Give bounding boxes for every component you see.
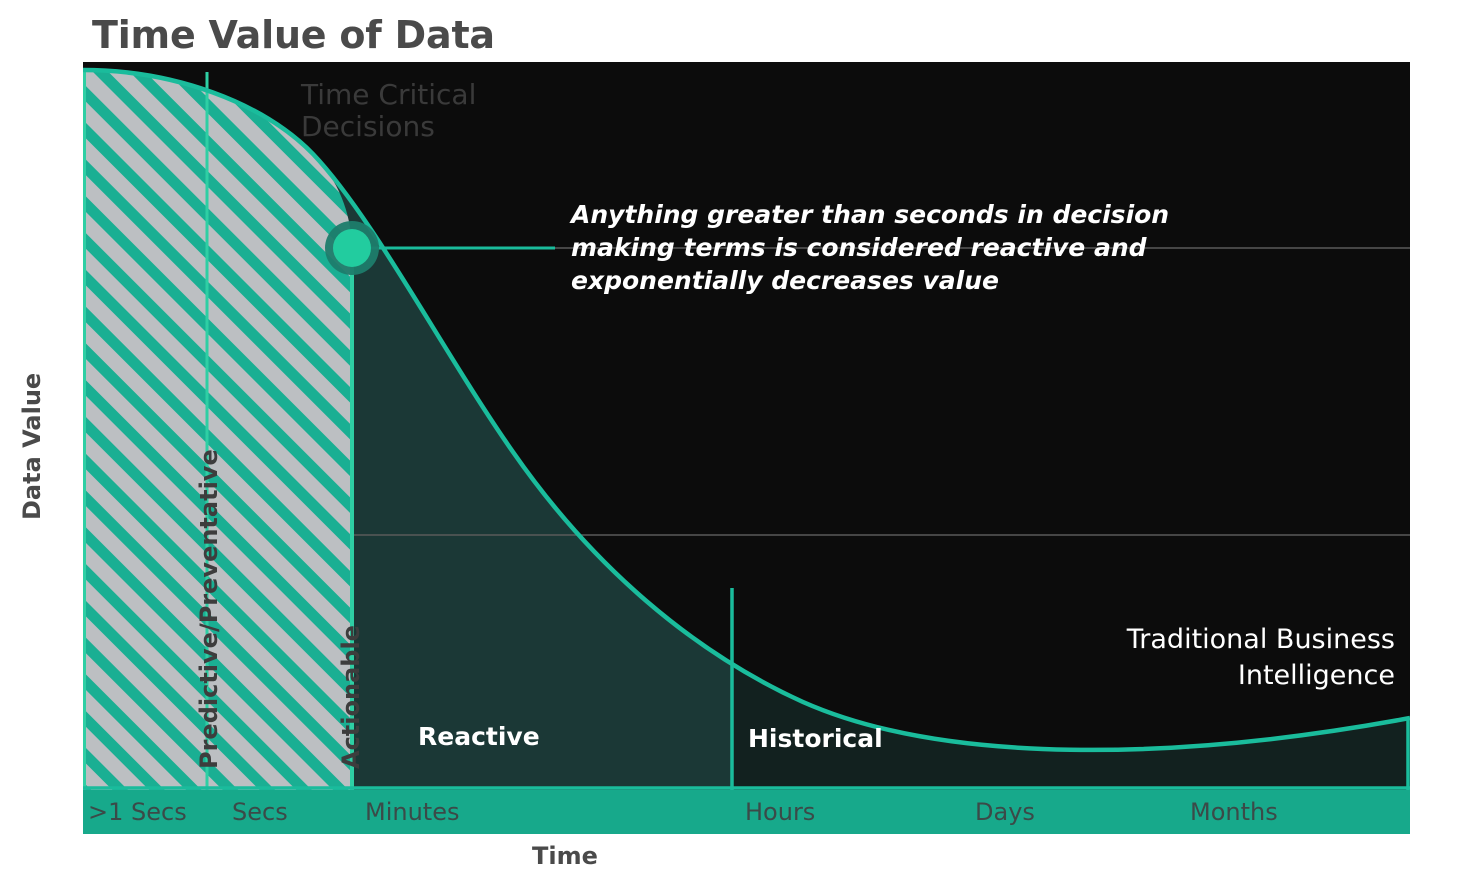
x-tick-secs: Secs: [232, 798, 288, 826]
chart-root: Time Value of Data: [0, 0, 1469, 889]
x-axis-band: >1 Secs Secs Minutes Hours Days Months: [83, 790, 1410, 834]
x-tick-months: Months: [1190, 798, 1278, 826]
x-tick-minutes: Minutes: [365, 798, 459, 826]
x-axis-title: Time: [0, 842, 1130, 870]
page-title: Time Value of Data: [92, 13, 495, 57]
chart-canvas: [83, 62, 1410, 790]
marker-dot: [333, 229, 371, 267]
x-tick-days: Days: [975, 798, 1035, 826]
plot-area: Time CriticalDecisions Anything greater …: [83, 62, 1410, 790]
y-axis-title: Data Value: [18, 373, 46, 520]
hatched-region: [83, 70, 352, 790]
x-tick-gt1secs: >1 Secs: [88, 798, 187, 826]
x-tick-hours: Hours: [745, 798, 815, 826]
